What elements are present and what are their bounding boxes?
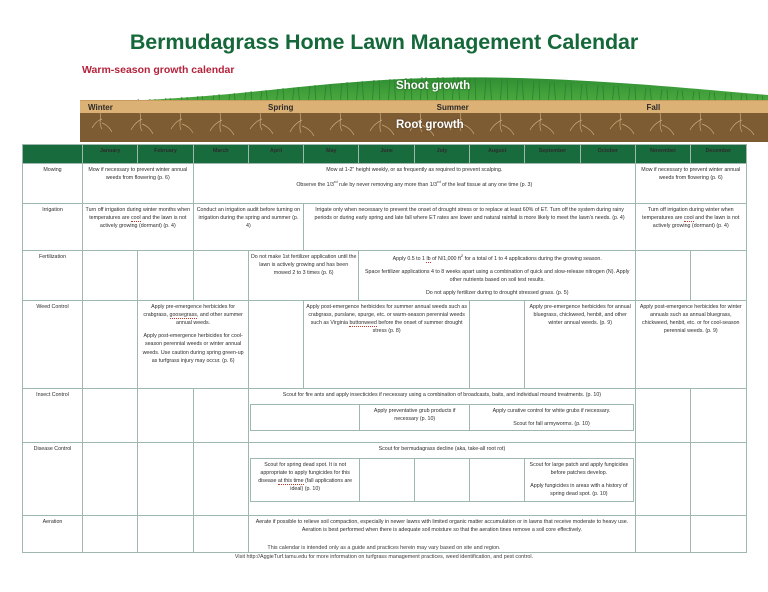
table-row-insect-control: Insect Control Scout for fire ants and a… <box>23 388 747 442</box>
cell-insect-nov[interactable] <box>635 388 690 442</box>
cell-fertilization-feb[interactable] <box>138 251 193 301</box>
cell-text: Turn off irrigation during winter months… <box>85 206 191 231</box>
cell-irrigation-winter-early[interactable]: Turn off irrigation during winter months… <box>83 204 194 251</box>
cell-disease-feb[interactable] <box>138 442 193 515</box>
cell-weed-preemergence-spring[interactable]: Apply pre-emergence herbicides for crabg… <box>138 300 249 388</box>
cell-disease-merged[interactable]: Scout for bermudagrass decline (aka, tak… <box>248 442 635 515</box>
cell-text-line2: Observe the 1/3rd rule by never removing… <box>196 179 633 189</box>
cell-fertilization-season[interactable]: Apply 0.5 to 1 lb of N/1,000 ft2 for a t… <box>359 251 635 301</box>
table-row-weed-control: Weed Control Apply pre-emergence herbici… <box>23 300 747 388</box>
cell-insect-jan[interactable] <box>83 388 138 442</box>
month-header-row: January February March April May June Ju… <box>23 145 747 164</box>
cell-insect-sub-blank[interactable] <box>250 404 360 430</box>
cell-weed-postemergence-winter[interactable]: Apply post-emergence herbicides for wint… <box>635 300 746 388</box>
table-row-mowing: Mowing Mow if necessary to prevent winte… <box>23 164 747 204</box>
cell-disease-spring-dead-spot[interactable]: Scout for spring dead spot. It is not ap… <box>250 458 360 501</box>
month-header-february[interactable]: February <box>138 145 193 164</box>
cell-fertilization-mar[interactable] <box>193 251 248 301</box>
month-header-august[interactable]: August <box>470 145 525 164</box>
season-fall-label: Fall <box>646 103 660 112</box>
cell-disease-sub-blank-3[interactable] <box>469 458 524 501</box>
cell-weed-august[interactable] <box>470 300 525 388</box>
cell-text-fire-ants: Scout for fire ants and apply insecticid… <box>250 391 634 399</box>
month-header-june[interactable]: June <box>359 145 414 164</box>
corner-cell <box>23 145 83 164</box>
cell-text: Apply pre-emergence herbicides for annua… <box>527 303 633 328</box>
cell-disease-nov[interactable] <box>635 442 690 515</box>
cell-disease-mar[interactable] <box>193 442 248 515</box>
row-label-irrigation: Irrigation <box>23 204 83 251</box>
cell-text: Scout for spring dead spot. It is not ap… <box>253 461 358 494</box>
cell-weed-postemergence-summer[interactable]: Apply post-emergence herbicides for summ… <box>304 300 470 388</box>
cell-text-line1: Apply curative control for white grubs i… <box>472 407 631 415</box>
row-label-insect-control: Insect Control <box>23 388 83 442</box>
cell-mowing-season[interactable]: Mow at 1-2" height weekly, or as frequen… <box>193 164 635 204</box>
table-row-disease-control: Disease Control Scout for bermudagrass d… <box>23 442 747 515</box>
season-spring-label: Spring <box>268 103 293 112</box>
cell-fertilization-jan[interactable] <box>83 251 138 301</box>
cell-irrigation-audit[interactable]: Conduct an irrigation audit before turni… <box>193 204 304 251</box>
cell-text-line1: Apply 0.5 to 1 lb of N/1,000 ft2 for a t… <box>361 253 632 263</box>
month-header-april[interactable]: April <box>248 145 303 164</box>
month-header-september[interactable]: September <box>525 145 580 164</box>
shoot-growth-label: Shoot growth <box>396 80 470 92</box>
cell-text-line2: Apply fungicides in areas with a history… <box>527 482 631 498</box>
cell-fertilization-nov[interactable] <box>635 251 690 301</box>
growth-banner: Winter Spring Summer Fall <box>80 72 768 142</box>
spellcheck-word: buttonweed <box>349 320 376 327</box>
table-header: January February March April May June Ju… <box>23 145 747 164</box>
cell-mowing-winter-late[interactable]: Mow if necessary to prevent winter annua… <box>635 164 746 204</box>
spellcheck-word: goosegrass <box>170 312 197 319</box>
cell-irrigation-season[interactable]: Irrigate only when necessary to prevent … <box>304 204 636 251</box>
season-winter-label: Winter <box>88 103 113 112</box>
cell-insect-feb[interactable] <box>138 388 193 442</box>
table-row-fertilization: Fertilization Do not make 1st fertilizer… <box>23 251 747 301</box>
cell-text: Mow if necessary to prevent winter annua… <box>85 166 191 182</box>
row-label-weed-control: Weed Control <box>23 300 83 388</box>
insect-subrow: Apply preventative grub products if nece… <box>250 404 633 430</box>
management-calendar-table: January February March April May June Ju… <box>22 144 747 553</box>
month-header-july[interactable]: July <box>414 145 469 164</box>
cell-text-bermudagrass-decline: Scout for bermudagrass decline (aka, tak… <box>250 445 634 453</box>
season-band: Winter Spring Summer Fall <box>80 100 768 113</box>
cell-text: Do not make 1st fertilizer application u… <box>251 253 357 278</box>
cell-disease-sub-blank-1[interactable] <box>360 458 415 501</box>
cell-disease-sub-blank-2[interactable] <box>415 458 470 501</box>
cell-text: Mow if necessary to prevent winter annua… <box>638 166 744 182</box>
month-header-december[interactable]: December <box>691 145 746 164</box>
row-label-fertilization: Fertilization <box>23 251 83 301</box>
cell-text: Conduct an irrigation audit before turni… <box>196 206 302 231</box>
cell-text: Aerate if possible to relieve soil compa… <box>251 518 633 534</box>
page-title: Bermudagrass Home Lawn Management Calend… <box>0 30 768 55</box>
footer-line-1: This calendar is intended only as a guid… <box>0 544 768 553</box>
footer-note: This calendar is intended only as a guid… <box>0 544 768 562</box>
cell-text: Apply post-emergence herbicides for wint… <box>638 303 744 336</box>
cell-text: Turn off irrigation during winter when t… <box>638 206 744 231</box>
month-header-january[interactable]: January <box>83 145 138 164</box>
table-row-irrigation: Irrigation Turn off irrigation during wi… <box>23 204 747 251</box>
cell-text: Apply post-emergence herbicides for summ… <box>306 303 467 336</box>
cell-text-line2: Apply post-emergence herbicides for cool… <box>140 332 246 365</box>
cell-fertilization-first-app[interactable]: Do not make 1st fertilizer application u… <box>248 251 359 301</box>
cell-insect-mar[interactable] <box>193 388 248 442</box>
month-header-march[interactable]: March <box>193 145 248 164</box>
disease-subrow: Scout for spring dead spot. It is not ap… <box>250 458 633 501</box>
row-label-mowing: Mowing <box>23 164 83 204</box>
spellcheck-word: lb <box>426 256 430 263</box>
spellcheck-word: cool <box>684 215 694 222</box>
footer-line-2: Visit http://AggieTurf.tamu.edu for more… <box>0 553 768 562</box>
cell-text-line1: Mow at 1-2" height weekly, or as frequen… <box>196 166 633 174</box>
spellcheck-word: cool <box>131 215 141 222</box>
season-summer-label: Summer <box>437 103 469 112</box>
cell-irrigation-winter-late[interactable]: Turn off irrigation during winter when t… <box>635 204 746 251</box>
cell-disease-jan[interactable] <box>83 442 138 515</box>
cell-insect-preventative-grub[interactable]: Apply preventative grub products if nece… <box>360 404 470 430</box>
cell-text-line1: Apply pre-emergence herbicides for crabg… <box>140 303 246 328</box>
cell-insect-merged[interactable]: Scout for fire ants and apply insecticid… <box>248 388 635 442</box>
cell-text-line2: Space fertilizer applications 4 to 8 wee… <box>361 268 632 284</box>
insect-subtable: Apply preventative grub products if nece… <box>250 404 634 431</box>
month-header-may[interactable]: May <box>304 145 359 164</box>
calendar-page: Bermudagrass Home Lawn Management Calend… <box>0 0 768 592</box>
cell-fertilization-dec[interactable] <box>691 251 746 301</box>
cell-weed-april[interactable] <box>248 300 303 388</box>
cell-disease-large-patch[interactable]: Scout for large patch and apply fungicid… <box>524 458 633 501</box>
cell-insect-dec[interactable] <box>691 388 746 442</box>
cell-text-line3: Do not apply fertilizer during to drough… <box>361 289 632 297</box>
disease-subtable: Scout for spring dead spot. It is not ap… <box>250 458 634 502</box>
row-label-disease-control: Disease Control <box>23 442 83 515</box>
cell-weed-preemergence-fall[interactable]: Apply pre-emergence herbicides for annua… <box>525 300 636 388</box>
cell-weed-jan[interactable] <box>83 300 138 388</box>
cell-text-line2: Scout for fall armyworms. (p. 10) <box>472 420 631 428</box>
cell-insect-curative-grub[interactable]: Apply curative control for white grubs i… <box>469 404 633 430</box>
cell-text-line1: Scout for large patch and apply fungicid… <box>527 461 631 477</box>
cell-mowing-winter-early[interactable]: Mow if necessary to prevent winter annua… <box>83 164 194 204</box>
cell-disease-dec[interactable] <box>691 442 746 515</box>
month-header-october[interactable]: October <box>580 145 635 164</box>
spellcheck-word: at this time <box>278 478 304 485</box>
root-growth-label: Root growth <box>396 119 464 131</box>
month-header-november[interactable]: November <box>635 145 690 164</box>
cell-text: Irrigate only when necessary to prevent … <box>306 206 633 222</box>
table-body: Mowing Mow if necessary to prevent winte… <box>23 164 747 553</box>
